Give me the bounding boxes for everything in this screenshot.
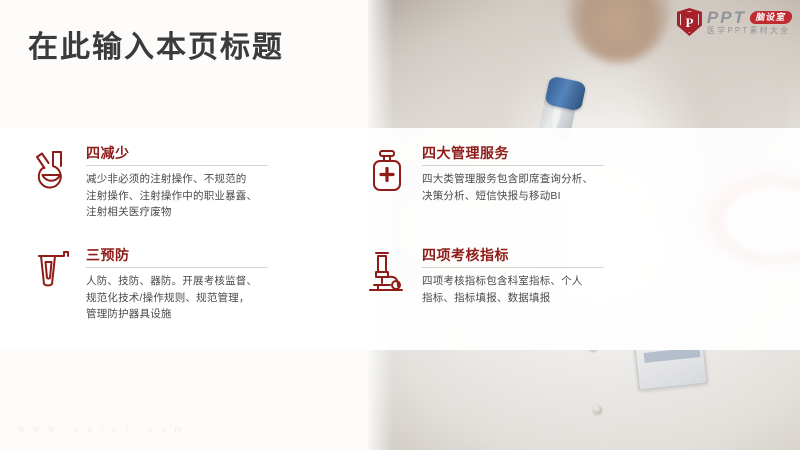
logo-text: PPT 脑设室 医学PPT素材大全: [707, 9, 792, 35]
list-item-body: 四大管理服务 四大类管理服务包含即席查询分析、 决策分析、短信快报与移动BI: [422, 146, 700, 248]
list-item-title: 四大管理服务: [422, 146, 700, 161]
content-panel: 四减少 减少非必须的注射操作、不规范的 注射操作、注射操作中的职业暴露、 注射相…: [0, 128, 800, 350]
list-item-divider: [422, 267, 604, 268]
shield-icon: P: [677, 8, 702, 36]
microscope-icon: [364, 248, 410, 300]
logo-tag-badge: 脑设室: [749, 11, 793, 24]
list-item-title: 四减少: [86, 146, 364, 161]
list-item[interactable]: 四项考核指标 四项考核指标包含科室指标、个人 指标、指标填报、数据填报: [364, 248, 700, 350]
medicine-bottle-icon: [364, 146, 410, 198]
list-item-title: 四项考核指标: [422, 248, 700, 263]
slide-canvas: 在此输入本页标题 P PPT 脑设室 医学PPT素材大全: [0, 0, 800, 450]
list-item-description: 四大类管理服务包含即席查询分析、 决策分析、短信快报与移动BI: [422, 171, 700, 204]
shield-letter: P: [685, 16, 693, 29]
list-item-description: 四项考核指标包含科室指标、个人 指标、指标填报、数据填报: [422, 273, 700, 306]
list-item[interactable]: 四减少 减少非必须的注射操作、不规范的 注射操作、注射操作中的职业暴露、 注射相…: [28, 146, 364, 248]
list-item[interactable]: 四大管理服务 四大类管理服务包含即席查询分析、 决策分析、短信快报与移动BI: [364, 146, 700, 248]
list-item-divider: [86, 165, 268, 166]
list-item-body: 四减少 减少非必须的注射操作、不规范的 注射操作、注射操作中的职业暴露、 注射相…: [86, 146, 364, 248]
list-item-description: 人防、技防、器防。开展考核监督、 规范化技术/操作规则、规范管理， 管理防护器具…: [86, 273, 364, 322]
list-item-title: 三预防: [86, 248, 364, 263]
logo-brand-text: PPT: [707, 9, 746, 26]
flask-icon: [28, 146, 74, 198]
list-item[interactable]: 三预防 人防、技防、器防。开展考核监督、 规范化技术/操作规则、规范管理， 管理…: [28, 248, 364, 350]
list-item-body: 三预防 人防、技防、器防。开展考核监督、 规范化技术/操作规则、规范管理， 管理…: [86, 248, 364, 350]
list-item-divider: [422, 165, 604, 166]
test-tube-icon: [28, 248, 74, 300]
brand-logo[interactable]: P PPT 脑设室 医学PPT素材大全: [677, 8, 792, 36]
logo-subtitle: 医学PPT素材大全: [707, 27, 792, 35]
list-item-divider: [86, 267, 268, 268]
content-grid: 四减少 减少非必须的注射操作、不规范的 注射操作、注射操作中的职业暴露、 注射相…: [0, 128, 700, 350]
page-title: 在此输入本页标题: [28, 22, 284, 66]
list-item-description: 减少非必须的注射操作、不规范的 注射操作、注射操作中的职业暴露、 注射相关医疗废…: [86, 171, 364, 220]
site-watermark: w w w . p p t e r . c o m: [18, 424, 185, 434]
list-item-body: 四项考核指标 四项考核指标包含科室指标、个人 指标、指标填报、数据填报: [422, 248, 700, 350]
logo-primary-row: PPT 脑设室: [707, 9, 792, 26]
